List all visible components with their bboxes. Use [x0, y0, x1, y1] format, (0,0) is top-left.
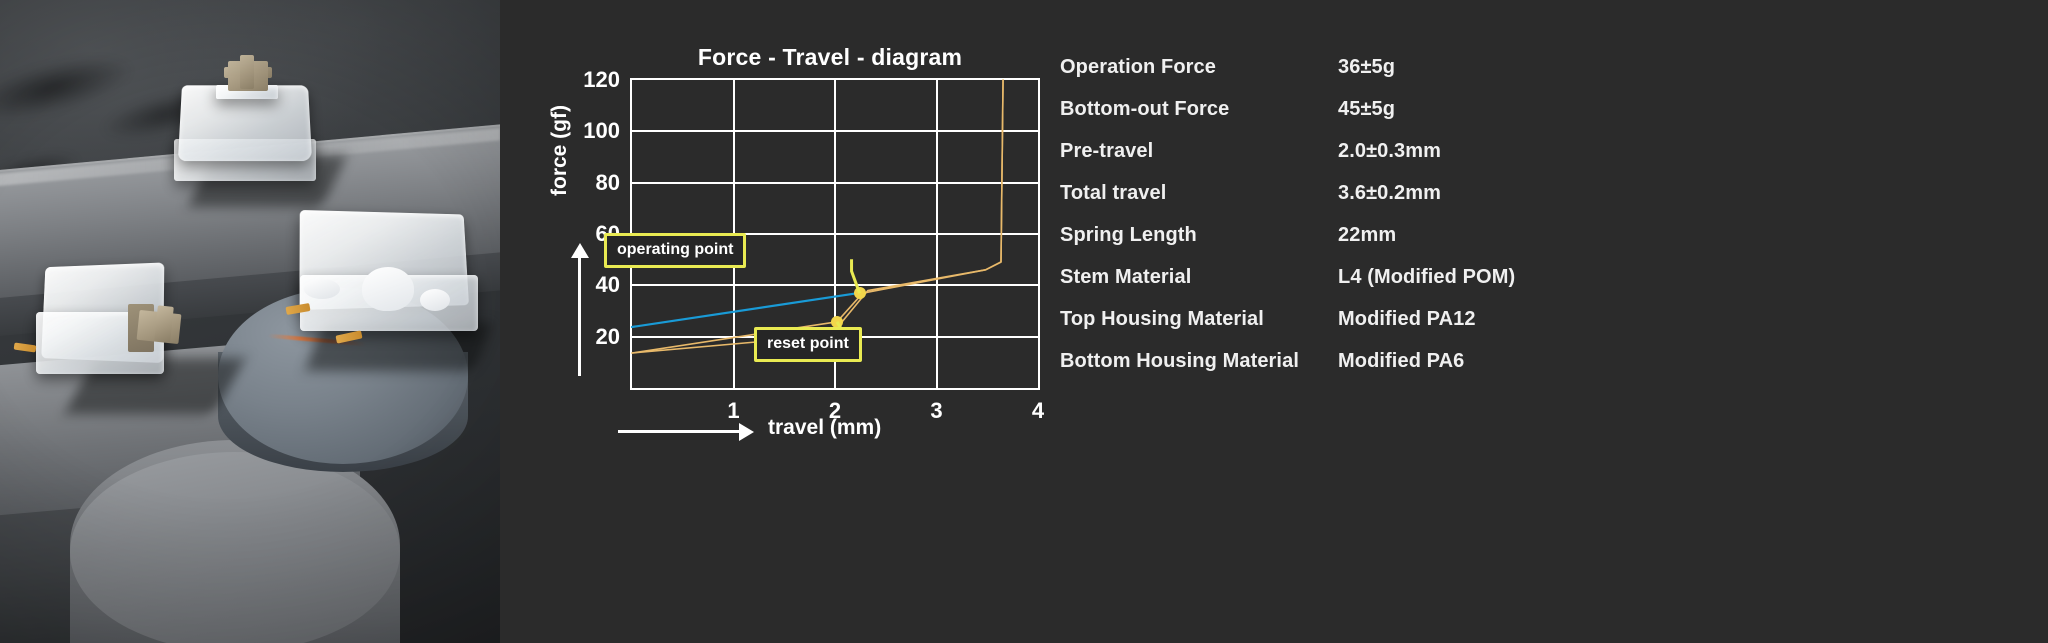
force-travel-chart: Force - Travel - diagram force (gf) trav… — [530, 44, 1020, 444]
spec-value: 3.6±0.2mm — [1338, 182, 1441, 205]
operating-point-marker — [854, 287, 866, 299]
info-panel: Force - Travel - diagram force (gf) trav… — [500, 0, 2048, 643]
chart-title: Force - Travel - diagram — [620, 44, 1040, 71]
spec-key: Stem Material — [1060, 266, 1338, 289]
curve-downstroke — [632, 80, 1003, 353]
x-tick-3: 3 — [930, 398, 942, 424]
y-tick-120: 120 — [583, 67, 620, 93]
table-row: Stem Material L4 (Modified POM) — [1060, 266, 2020, 308]
table-row: Operation Force 36±5g — [1060, 56, 2020, 98]
spec-value: Modified PA12 — [1338, 308, 1476, 331]
spec-value: 36±5g — [1338, 56, 1395, 79]
curve-upstroke — [632, 80, 1003, 353]
x-axis-arrow-icon — [618, 430, 740, 433]
spec-key: Pre-travel — [1060, 140, 1338, 163]
spec-value: 45±5g — [1338, 98, 1395, 121]
spec-value: 22mm — [1338, 224, 1396, 247]
spec-table: Operation Force 36±5g Bottom-out Force 4… — [1060, 56, 2020, 392]
spec-key: Bottom-out Force — [1060, 98, 1338, 121]
spec-key: Top Housing Material — [1060, 308, 1338, 331]
spec-key: Bottom Housing Material — [1060, 350, 1338, 373]
spec-value: Modified PA6 — [1338, 350, 1464, 373]
spec-key: Spring Length — [1060, 224, 1338, 247]
photo-vignette — [0, 0, 500, 643]
reset-point-callout: reset point — [754, 327, 862, 362]
x-tick-1: 1 — [727, 398, 739, 424]
product-photo — [0, 0, 500, 643]
table-row: Bottom Housing Material Modified PA6 — [1060, 350, 2020, 392]
y-tick-40: 40 — [596, 272, 620, 298]
chart-x-axis-label: travel (mm) — [768, 416, 881, 440]
y-tick-20: 20 — [596, 324, 620, 350]
table-row: Bottom-out Force 45±5g — [1060, 98, 2020, 140]
table-row: Top Housing Material Modified PA12 — [1060, 308, 2020, 350]
product-spec-banner: Force - Travel - diagram force (gf) trav… — [0, 0, 2048, 643]
y-tick-100: 100 — [583, 118, 620, 144]
curve-spring-force — [632, 293, 858, 327]
operating-point-callout: operating point — [604, 233, 746, 268]
spec-value: 2.0±0.3mm — [1338, 140, 1441, 163]
spec-key: Operation Force — [1060, 56, 1338, 79]
x-tick-2: 2 — [829, 398, 841, 424]
y-tick-80: 80 — [596, 170, 620, 196]
table-row: Total travel 3.6±0.2mm — [1060, 182, 2020, 224]
x-tick-4: 4 — [1032, 398, 1044, 424]
reset-point-marker — [831, 316, 843, 328]
chart-y-axis-label: force (gf) — [548, 105, 572, 196]
table-row: Pre-travel 2.0±0.3mm — [1060, 140, 2020, 182]
y-axis-arrow-icon — [578, 256, 581, 376]
spec-value: L4 (Modified POM) — [1338, 266, 1515, 289]
spec-key: Total travel — [1060, 182, 1338, 205]
table-row: Spring Length 22mm — [1060, 224, 2020, 266]
